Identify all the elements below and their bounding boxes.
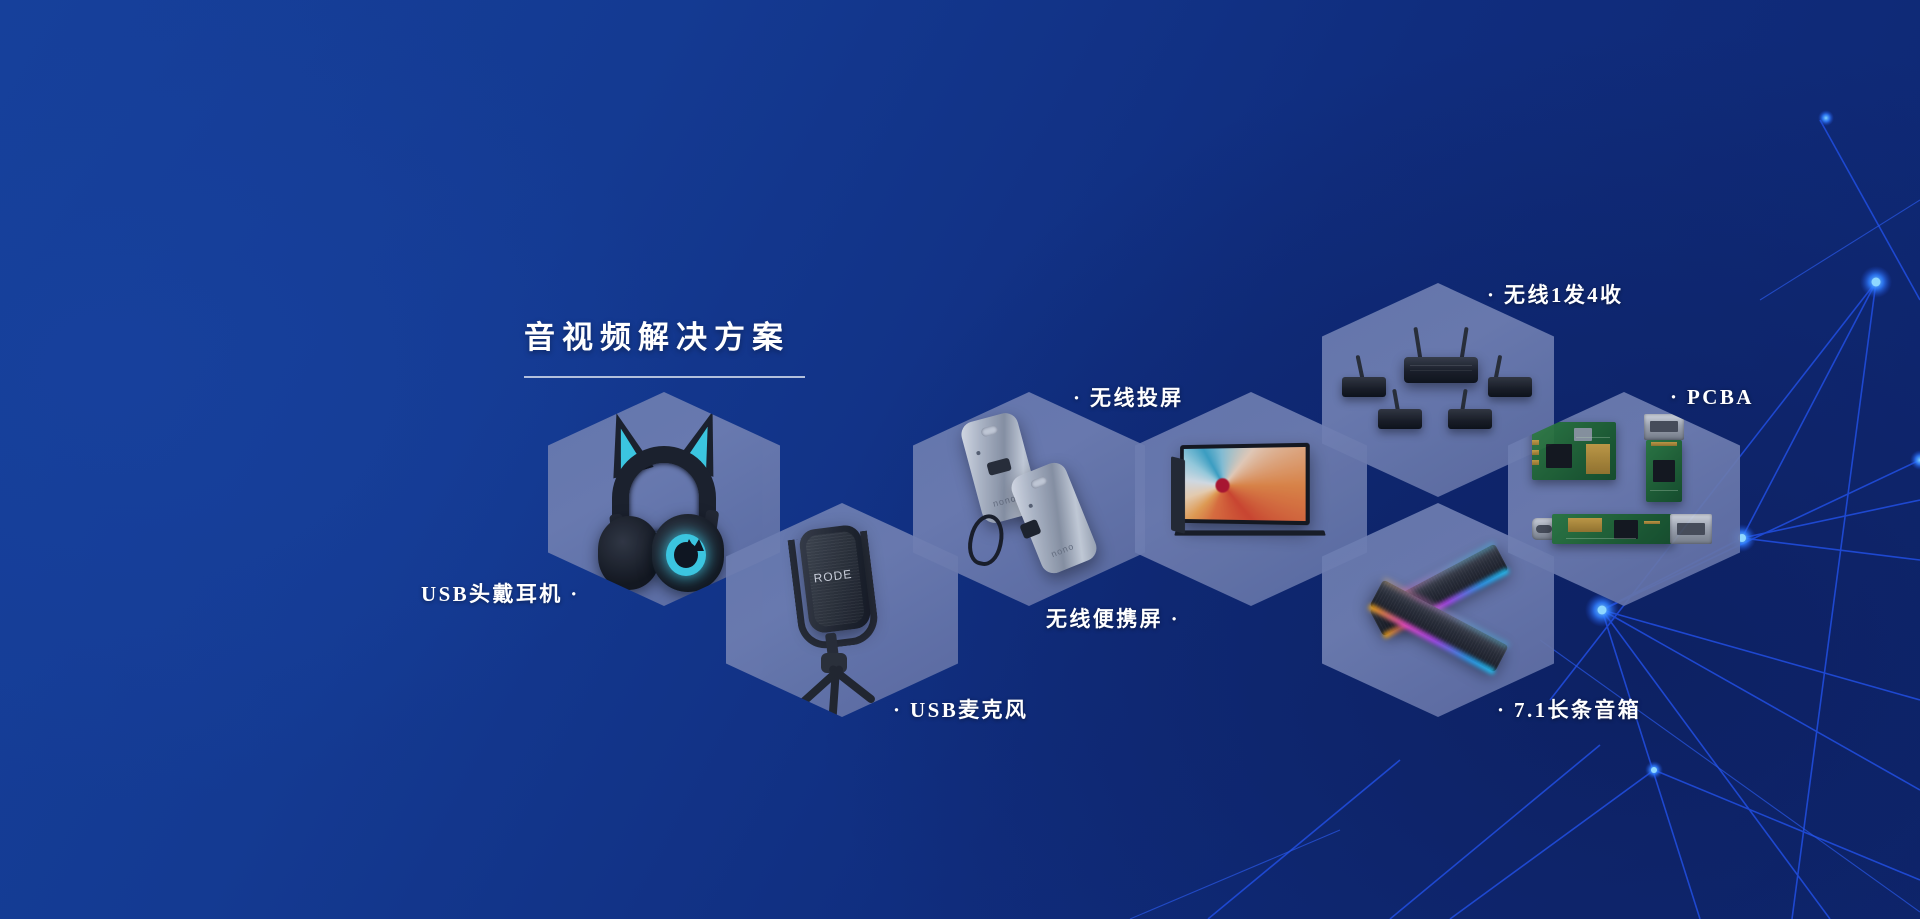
transmitter-base-icon	[1404, 357, 1478, 383]
pcb-main-chip-icon	[1653, 460, 1675, 482]
wireless-dongle-b-icon: nono	[1008, 459, 1101, 577]
usb-c-slot-icon	[1536, 525, 1552, 533]
dongle-port-icon	[1019, 519, 1041, 540]
headphone-earcup-left-icon	[598, 516, 660, 590]
pcb-antenna-trace-icon	[1586, 444, 1610, 474]
pcb-main-chip-icon	[1614, 520, 1638, 539]
monitor-stand-icon	[1174, 530, 1326, 535]
pcb-adapter-board-icon	[1552, 514, 1674, 544]
receiver-antenna-2-icon	[1494, 355, 1503, 379]
pcb-silkscreen-icon	[1650, 490, 1678, 491]
pcb-finger-row-icon	[1644, 521, 1660, 524]
receiver-1-icon	[1342, 377, 1386, 397]
dongle-button-icon	[980, 424, 999, 437]
slide-canvas: 音视频解决方案 USB头戴耳机 ·	[0, 0, 1920, 919]
pcb-shield-can-icon	[1574, 428, 1592, 441]
dongle-port-icon	[986, 457, 1012, 476]
pcb-pad-2-icon	[1532, 450, 1539, 455]
pcb-main-chip-icon	[1546, 444, 1572, 468]
pcb-silkscreen-icon	[1576, 437, 1610, 438]
receiver-antenna-4-icon	[1460, 389, 1467, 411]
label-soundbar: · 7.1长条音箱	[1497, 694, 1641, 724]
page-title-block: 音视频解决方案	[524, 312, 805, 378]
receiver-4-icon	[1448, 409, 1492, 429]
receiver-antenna-3-icon	[1392, 389, 1400, 411]
pcb-pad-3-icon	[1532, 460, 1539, 465]
label-usb-headset: USB头戴耳机 ·	[421, 578, 580, 608]
pcb-silkscreen-icon	[1566, 538, 1636, 539]
headphone-earcup-right-icon	[652, 514, 724, 592]
dongle-brand-label: nono	[1050, 541, 1076, 559]
microphone-body-icon: RODE	[798, 524, 872, 635]
label-usb-microphone: · USB麦克风	[893, 694, 1028, 724]
page-title: 音视频解决方案	[524, 312, 805, 357]
hdmi-slot-icon	[1677, 523, 1705, 535]
pcb-hdmi-board-icon	[1646, 440, 1682, 502]
transmitter-antenna-right-icon	[1459, 327, 1468, 361]
dongle-led-icon	[976, 451, 981, 456]
monitor-kickstand-icon	[1171, 456, 1185, 533]
label-pcba: · PCBA	[1670, 385, 1754, 410]
monitor-wallpaper-flower-icon	[1184, 447, 1306, 521]
pcb-module-board-icon	[1532, 422, 1616, 480]
dongle-button-icon	[1030, 475, 1049, 490]
portable-monitor-screen-icon	[1180, 443, 1310, 525]
transmitter-antenna-left-icon	[1413, 327, 1422, 361]
hdmi-connector-vertical-icon	[1644, 414, 1684, 440]
pcb-antenna-trace-icon	[1568, 518, 1602, 532]
earcup-led-ring-icon	[666, 534, 706, 576]
hdmi-connector-horizontal-icon	[1670, 514, 1712, 544]
pcb-pad-1-icon	[1532, 440, 1539, 445]
label-wireless-1tx4rx: · 无线1发4收	[1487, 279, 1623, 309]
hdmi-slot-icon	[1650, 421, 1678, 432]
title-divider	[524, 376, 805, 378]
receiver-2-icon	[1488, 377, 1532, 397]
label-wireless-casting: · 无线投屏	[1073, 382, 1184, 412]
label-portable-screen: 无线便携屏 ·	[1046, 603, 1180, 633]
receiver-antenna-1-icon	[1356, 355, 1365, 379]
dongle-led-icon	[1028, 503, 1033, 508]
receiver-3-icon	[1378, 409, 1422, 429]
pcb-finger-row-icon	[1651, 442, 1677, 446]
